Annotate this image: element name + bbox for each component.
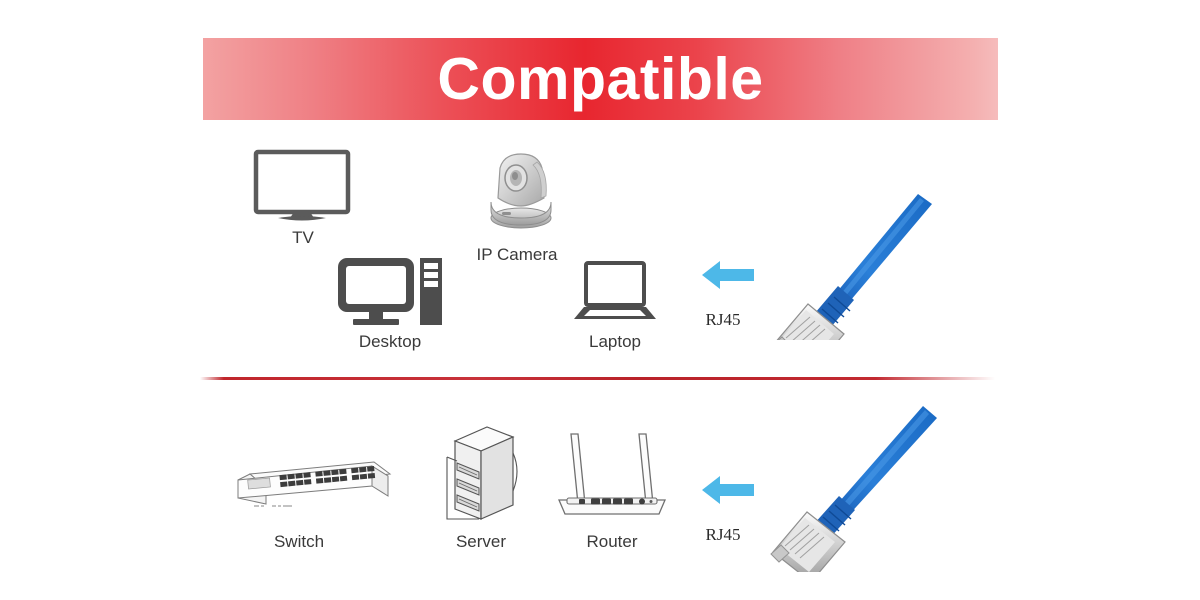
device-server [443,423,521,532]
desktop-computer-icon [336,256,444,328]
tv-icon [252,148,352,226]
device-router [553,428,671,523]
device-label-laptop: Laptop [589,332,641,352]
device-desktop [336,256,444,333]
ip-camera-icon [480,146,562,232]
device-label-tv: TV [292,228,314,248]
network-switch-icon [232,452,394,522]
server-rack-icon [443,423,521,527]
page-title: Compatible [437,50,763,109]
ethernet-cable-row2 [757,400,947,577]
device-tv [252,148,352,231]
header-banner: Compatible [203,38,998,120]
ethernet-cable-row1 [760,188,940,345]
wifi-router-icon [553,428,671,518]
device-ip-camera [480,146,562,237]
arrow-left-row1 [700,258,756,297]
device-label-ip-camera: IP Camera [477,245,558,265]
arrow-left-row2 [700,473,756,512]
device-label-router: Router [586,532,637,552]
device-switch [232,452,394,527]
ethernet-cable-icon [757,400,947,572]
connector-label-rj45-row2: RJ45 [706,525,741,545]
device-laptop [572,261,658,328]
device-label-server: Server [456,532,506,552]
device-label-switch: Switch [274,532,324,552]
compatibility-diagram: Compatible TV [0,0,1200,600]
ethernet-cable-icon [760,188,940,340]
connector-label-rj45-row1: RJ45 [706,310,741,330]
device-label-desktop: Desktop [359,332,421,352]
arrow-left-icon [700,473,756,507]
section-divider [200,377,995,380]
arrow-left-icon [700,258,756,292]
laptop-icon [572,261,658,323]
